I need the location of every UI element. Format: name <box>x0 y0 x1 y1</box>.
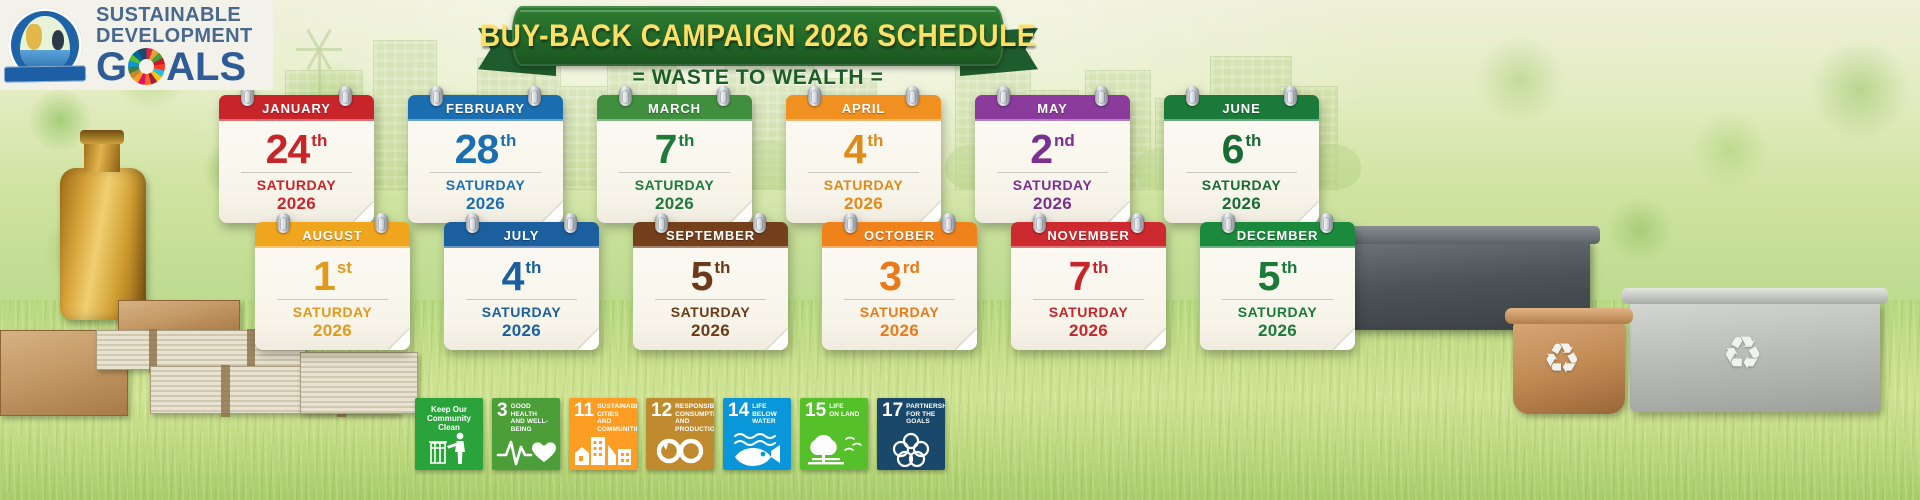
calendar-year-label: 2026 <box>828 321 971 341</box>
calendar-weekday-label: SATURDAY <box>450 304 593 320</box>
sdg-badge-sdg-3[interactable]: 3GOOD HEALTH AND WELL-BEING <box>492 398 560 470</box>
ring-icon <box>942 213 955 233</box>
sdg-badge-sdg-12[interactable]: 12RESPONSIBLE CONSUMPTION AND PRODUCTION <box>646 398 714 470</box>
calendar-card-may[interactable]: MAY2ndSATURDAY2026 <box>975 95 1130 223</box>
calendar-body: 4thSATURDAY2026 <box>786 121 941 223</box>
calendar-year-label: 2026 <box>981 194 1124 214</box>
calendar-card-june[interactable]: JUNE6thSATURDAY2026 <box>1164 95 1319 223</box>
sdg-badge-number: 15 <box>805 403 826 418</box>
calendar-weekday-label: SATURDAY <box>1170 177 1313 193</box>
calendar-rings <box>444 213 599 233</box>
calendar-year-label: 2026 <box>1017 321 1160 341</box>
calendar-divider <box>241 172 352 173</box>
calendar-day-number: 7 <box>655 127 677 171</box>
calendar-divider <box>277 299 388 300</box>
calendar-weekday-label: SATURDAY <box>225 177 368 193</box>
calendar-day-ordinal: th <box>678 131 694 151</box>
calendar-day-ordinal: nd <box>1054 131 1075 151</box>
sdg-badge-sdg-15[interactable]: 15LIFE ON LAND <box>800 398 868 470</box>
calendar-card-april[interactable]: APRIL4thSATURDAY2026 <box>786 95 941 223</box>
calendar-rings <box>1164 86 1319 106</box>
sdg-badge-sdg-17[interactable]: 17PARTNERSHIPS FOR THE GOALS <box>877 398 945 470</box>
ring-icon <box>655 213 668 233</box>
calendar-body: 2ndSATURDAY2026 <box>975 121 1130 223</box>
calendar-day-ordinal: th <box>1245 131 1261 151</box>
recycle-symbol-icon: ♻ <box>1722 330 1763 376</box>
calendar-body: 5thSATURDAY2026 <box>1200 248 1355 350</box>
sdg-11-icon <box>569 429 637 467</box>
calendar-weekday-label: SATURDAY <box>414 177 557 193</box>
calendar-weekday-label: SATURDAY <box>261 304 404 320</box>
sdg-badge-number: 3 <box>497 403 508 418</box>
sdg-badge-keep-our-community-clean[interactable]: Keep Our Community Clean <box>415 398 483 470</box>
sdg-badge-number: 14 <box>728 403 749 418</box>
calendar-divider <box>1222 299 1333 300</box>
sdg-3-icon <box>492 429 560 467</box>
calendar-day-number: 3 <box>879 254 901 298</box>
calendar-card-september[interactable]: SEPTEMBER5thSATURDAY2026 <box>633 222 788 350</box>
calendar-card-january[interactable]: JANUARY24thSATURDAY2026 <box>219 95 374 223</box>
calendar-body: 4thSATURDAY2026 <box>444 248 599 350</box>
ring-icon <box>375 213 388 233</box>
sdg-badge-strip: Keep Our Community Clean3GOOD HEALTH AND… <box>415 398 945 470</box>
ribbon-body: BUY-BACK CAMPAIGN 2026 SCHEDULE <box>512 6 1004 66</box>
sdg-line-1: SUSTAINABLE <box>96 5 253 25</box>
calendar-rings <box>1011 213 1166 233</box>
calendar-rings <box>633 213 788 233</box>
ring-icon <box>1320 213 1333 233</box>
sdg-badge-number: 12 <box>651 403 672 418</box>
calendar-day-ordinal: th <box>714 258 730 278</box>
calendar-day-number: 5 <box>691 254 713 298</box>
ring-icon <box>1284 86 1297 106</box>
calendar-rings <box>822 213 977 233</box>
cardboard-box-prop <box>118 300 240 334</box>
ring-icon <box>564 213 577 233</box>
calendar-divider <box>655 299 766 300</box>
calendar-divider <box>430 172 541 173</box>
calendar-day-number: 5 <box>1258 254 1280 298</box>
calendar-year-label: 2026 <box>261 321 404 341</box>
sdg-badge-number: 17 <box>882 403 903 418</box>
calendar-weekday-label: SATURDAY <box>639 304 782 320</box>
calendar-weekday-label: SATURDAY <box>1017 304 1160 320</box>
calendar-divider <box>997 172 1108 173</box>
calendar-body: 3rdSATURDAY2026 <box>822 248 977 350</box>
calendar-divider <box>1186 172 1297 173</box>
calendar-rings <box>1200 213 1355 233</box>
calendar-day-number: 6 <box>1222 127 1244 171</box>
calendar-weekday-label: SATURDAY <box>1206 304 1349 320</box>
calendar-card-october[interactable]: OCTOBER3rdSATURDAY2026 <box>822 222 977 350</box>
sdg-badge-label: Keep Our Community Clean <box>420 403 478 432</box>
calendar-year-label: 2026 <box>225 194 368 214</box>
title-banner: BUY-BACK CAMPAIGN 2026 SCHEDULE = WASTE … <box>478 6 1038 88</box>
ring-icon <box>1095 86 1108 106</box>
sdg-color-wheel-icon <box>128 48 165 85</box>
sdg-15-icon <box>800 429 868 467</box>
sdg-12-icon <box>646 429 714 467</box>
calendar-day-number: 24 <box>266 127 310 171</box>
calendar-day-ordinal: th <box>525 258 541 278</box>
calendar-year-label: 2026 <box>639 321 782 341</box>
calendar-year-label: 2026 <box>1170 194 1313 214</box>
ring-icon <box>277 213 290 233</box>
calendar-year-label: 2026 <box>450 321 593 341</box>
calendar-divider <box>808 172 919 173</box>
page-title: BUY-BACK CAMPAIGN 2026 SCHEDULE <box>480 18 1036 54</box>
logo-plate: SUSTAINABLE DEVELOPMENT G ALS <box>0 0 273 90</box>
goals-letters-als: ALS <box>166 49 246 85</box>
stacked-paper-prop <box>300 352 418 414</box>
recycling-bin-light-prop: ♻ <box>1630 300 1880 412</box>
sdg-badge-label: LIFE BELOW WATER <box>752 403 786 426</box>
calendar-day-ordinal: th <box>867 131 883 151</box>
sdg-wordmark: SUSTAINABLE DEVELOPMENT G ALS <box>96 5 253 85</box>
calendar-year-label: 2026 <box>603 194 746 214</box>
calendar-day-number: 28 <box>455 127 499 171</box>
calendar-rings <box>255 213 410 233</box>
ring-icon <box>1131 213 1144 233</box>
calendar-day-ordinal: th <box>500 131 516 151</box>
sdg-17-icon <box>877 429 945 467</box>
calendar-card-november[interactable]: NOVEMBER7thSATURDAY2026 <box>1011 222 1166 350</box>
sdg-badge-label: LIFE ON LAND <box>829 403 859 418</box>
calendar-card-december[interactable]: DECEMBER5thSATURDAY2026 <box>1200 222 1355 350</box>
calendar-weekday-label: SATURDAY <box>981 177 1124 193</box>
calendar-day-ordinal: th <box>1281 258 1297 278</box>
calendar-weekday-label: SATURDAY <box>603 177 746 193</box>
ring-icon <box>430 86 443 106</box>
calendar-year-label: 2026 <box>414 194 557 214</box>
calendar-card-february[interactable]: FEBRUARY28thSATURDAY2026 <box>408 95 563 223</box>
calendar-weekday-label: SATURDAY <box>828 304 971 320</box>
sdg-badge-sdg-11[interactable]: 11SUSTAINABLE CITIES AND COMMUNITIES <box>569 398 637 470</box>
sdg-badge-label: PARTNERSHIPS FOR THE GOALS <box>906 403 945 426</box>
sdg-line-2: DEVELOPMENT <box>96 26 253 46</box>
clay-pot-prop: ♻ <box>1513 318 1625 414</box>
calendar-body: 24thSATURDAY2026 <box>219 121 374 223</box>
calendar-body: 28thSATURDAY2026 <box>408 121 563 223</box>
calendar-body: 1stSATURDAY2026 <box>255 248 410 350</box>
calendar-day-number: 7 <box>1069 254 1091 298</box>
sdg-badge-sdg-14[interactable]: 14LIFE BELOW WATER <box>723 398 791 470</box>
ring-icon <box>339 86 352 106</box>
calendar-body: 5thSATURDAY2026 <box>633 248 788 350</box>
goals-letter-g: G <box>96 49 127 85</box>
ring-icon <box>844 213 857 233</box>
calendar-weekday-label: SATURDAY <box>792 177 935 193</box>
ring-icon <box>466 213 479 233</box>
keep-community-clean-icon <box>415 429 483 467</box>
ring-icon <box>1222 213 1235 233</box>
ring-icon <box>753 213 766 233</box>
majlis-bandaraya-miri-seal-icon <box>6 6 84 84</box>
calendar-day-number: 4 <box>502 254 524 298</box>
recycle-symbol-icon: ♻ <box>1543 336 1581 382</box>
calendar-year-label: 2026 <box>1206 321 1349 341</box>
calendar-day-number: 1 <box>313 254 335 298</box>
calendar-body: 7thSATURDAY2026 <box>597 121 752 223</box>
calendar-day-ordinal: th <box>1092 258 1108 278</box>
calendar-divider <box>1033 299 1144 300</box>
calendar-day-ordinal: st <box>337 258 352 278</box>
calendar-divider <box>466 299 577 300</box>
calendar-day-number: 2 <box>1030 127 1052 171</box>
calendar-day-ordinal: th <box>311 131 327 151</box>
calendar-divider <box>844 299 955 300</box>
calendar-card-july[interactable]: JULY4thSATURDAY2026 <box>444 222 599 350</box>
calendar-card-march[interactable]: MARCH7thSATURDAY2026 <box>597 95 752 223</box>
page-subtitle: = WASTE TO WEALTH = <box>478 66 1038 90</box>
calendar-body: 6thSATURDAY2026 <box>1164 121 1319 223</box>
calendar-year-label: 2026 <box>792 194 935 214</box>
calendar-body: 7thSATURDAY2026 <box>1011 248 1166 350</box>
sdg-badge-number: 11 <box>574 403 594 418</box>
calendar-day-number: 4 <box>844 127 866 171</box>
calendar-day-ordinal: rd <box>903 258 920 278</box>
calendar-divider <box>619 172 730 173</box>
ring-icon <box>1186 86 1199 106</box>
calendar-card-august[interactable]: AUGUST1stSATURDAY2026 <box>255 222 410 350</box>
sdg-14-icon <box>723 429 791 467</box>
ring-icon <box>1033 213 1046 233</box>
glass-bottle-prop <box>60 168 146 320</box>
